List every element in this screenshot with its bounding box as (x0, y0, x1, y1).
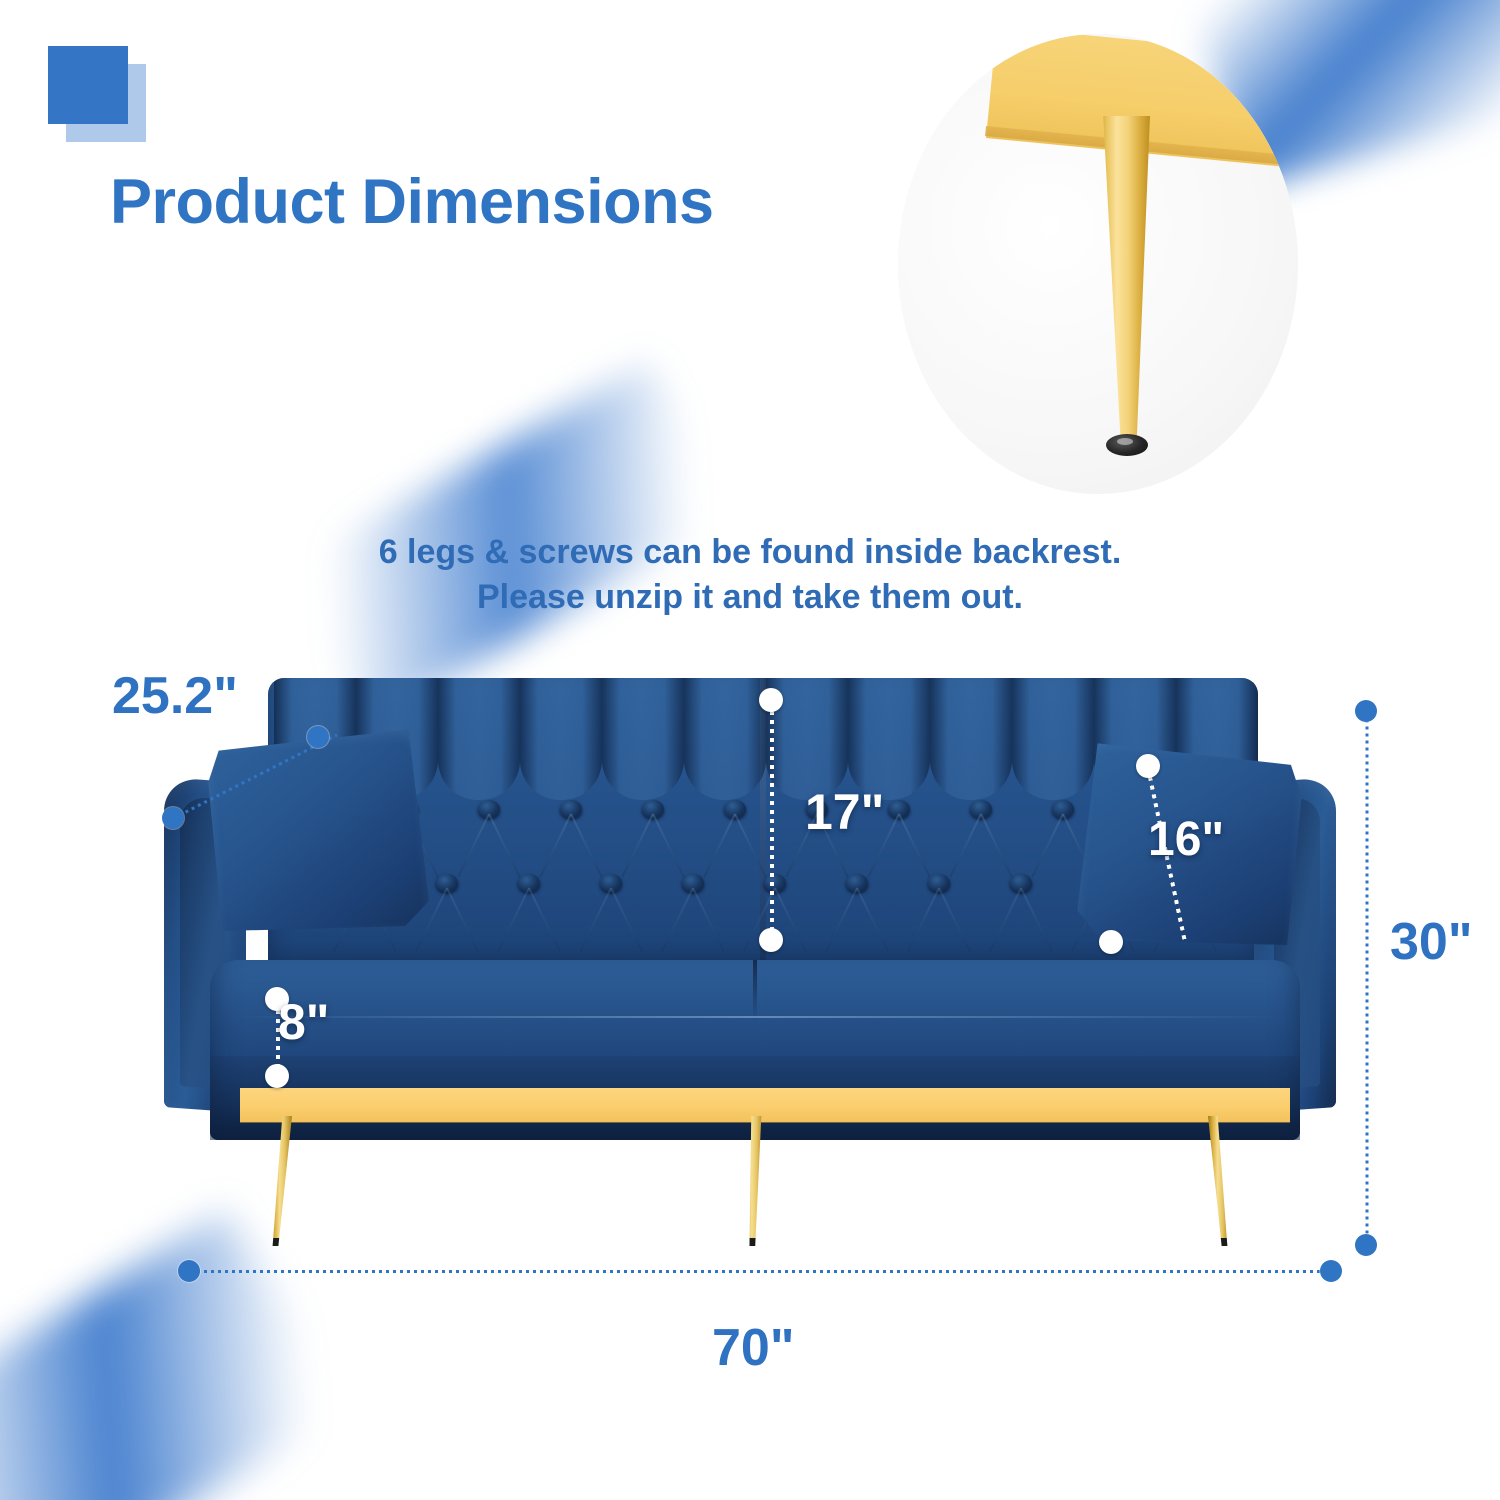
dimension-label-seat-thickness: 8" (278, 993, 330, 1051)
tufting-fold (579, 888, 611, 952)
assembly-note-line2: Please unzip it and take them out. (0, 575, 1500, 620)
dimension-dot-backrest-height-end (307, 726, 329, 748)
tufting-fold (980, 814, 1012, 878)
logo-square-front (48, 46, 128, 124)
leg-tip-right (1210, 1238, 1228, 1250)
assembly-note: 6 legs & screws can be found inside back… (0, 530, 1500, 620)
dimension-dot-pillow-size-top (1136, 754, 1160, 778)
seat-seam (232, 1016, 1278, 1018)
dimension-dot-seat-thickness-bottom (265, 1064, 289, 1088)
tufting-fold (1031, 814, 1063, 878)
backrest-channel (520, 678, 602, 800)
dimension-dot-overall-width-left (178, 1260, 200, 1282)
tufting-fold (497, 888, 529, 952)
dimension-line-overall-width (190, 1270, 1330, 1273)
tufting-fold (488, 814, 520, 878)
tufting-fold (539, 814, 571, 878)
sofa-leg-closeup-inset (898, 34, 1298, 494)
infographic-canvas: Product Dimensions 6 legs & screws can b… (0, 0, 1500, 1500)
sofa-product-image (150, 660, 1350, 1280)
tufting-fold (938, 888, 970, 952)
tufting-fold (856, 888, 888, 952)
dimension-dot-pillow-size-bottom (1099, 930, 1123, 954)
assembly-note-line1: 6 legs & screws can be found inside back… (0, 530, 1500, 575)
tufting-fold (692, 888, 724, 952)
dimension-dot-backrest-height-start (162, 807, 184, 829)
tufting-fold (703, 814, 735, 878)
dimension-dot-overall-height-top (1355, 700, 1377, 722)
backrest-channel (684, 678, 766, 800)
dimension-dot-overall-height-bottom (1355, 1234, 1377, 1256)
dimension-label-overall-height: 30" (1390, 912, 1473, 972)
tufting-fold (621, 814, 653, 878)
dimension-label-pillow-size: 16" (1148, 812, 1224, 867)
dimension-label-overall-width: 70" (712, 1318, 795, 1378)
backrest-channel (848, 678, 930, 800)
backrest-channel (930, 678, 1012, 800)
tufting-fold (898, 814, 930, 878)
dimension-label-backrest-height: 25.2" (112, 666, 238, 726)
throw-pillow-left (205, 729, 430, 939)
tufting-fold (1020, 888, 1052, 952)
backrest-channel (602, 678, 684, 800)
tufting-fold (989, 888, 1021, 952)
stacked-squares-logo-icon (48, 46, 148, 142)
tufting-fold (570, 814, 602, 878)
gold-base-rail (240, 1088, 1290, 1122)
tufting-fold (661, 888, 693, 952)
page-title: Product Dimensions (110, 166, 714, 238)
seat-center-split (753, 960, 757, 1022)
leg-tip-center (744, 1238, 762, 1250)
tufting-fold (825, 888, 857, 952)
tufting-fold (446, 888, 478, 952)
dimension-line-seat-back-height (770, 702, 774, 940)
backrest-channel (438, 678, 520, 800)
dimension-line-overall-height (1366, 713, 1369, 1247)
tufting-fold (610, 888, 642, 952)
dimension-dot-seat-back-height-top (759, 688, 783, 712)
leg-foot-highlight (1117, 438, 1133, 445)
leg-tip-left (272, 1238, 290, 1250)
dimension-label-seat-back-height: 17" (805, 783, 884, 841)
dimension-dot-overall-width-right (1320, 1260, 1342, 1282)
tufting-fold (457, 814, 489, 878)
dimension-dot-seat-back-height-bottom (759, 928, 783, 952)
backrest-channel (1012, 678, 1094, 800)
tufting-fold (949, 814, 981, 878)
tufting-fold (652, 814, 684, 878)
tufting-fold (528, 888, 560, 952)
tufting-fold (907, 888, 939, 952)
